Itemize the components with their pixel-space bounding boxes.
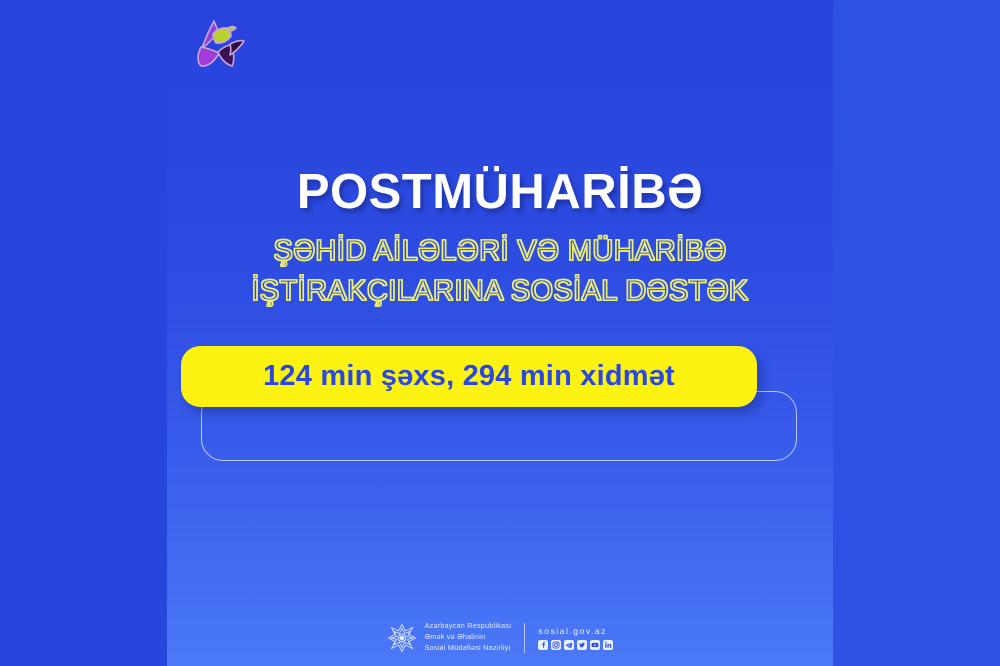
bird-flower-logo bbox=[187, 14, 251, 78]
ministry-group: Azərbaycan Respublikası Əmək və Əhalinin… bbox=[387, 621, 512, 654]
youtube-icon[interactable] bbox=[590, 640, 600, 650]
site-group: sosial.gov.az bbox=[538, 626, 613, 650]
social-links-row bbox=[538, 640, 613, 650]
left-background-strip bbox=[0, 0, 167, 666]
azerbaijan-ministry-star-emblem bbox=[387, 623, 417, 653]
right-background-strip bbox=[833, 0, 1000, 666]
stat-badge: 124 min şəxs, 294 min xidmət bbox=[181, 346, 757, 407]
telegram-icon[interactable] bbox=[564, 640, 574, 650]
poster-canvas: POSTMÜHARİBƏ ŞƏHİD AİLƏLƏRİ VƏ MÜHARİBƏ … bbox=[0, 0, 1000, 666]
headline-block: POSTMÜHARİBƏ ŞƏHİD AİLƏLƏRİ VƏ MÜHARİBƏ … bbox=[167, 168, 833, 311]
instagram-icon[interactable] bbox=[551, 640, 561, 650]
ministry-line-1: Azərbaycan Respublikası bbox=[425, 621, 512, 632]
poster-inner-panel: POSTMÜHARİBƏ ŞƏHİD AİLƏLƏRİ VƏ MÜHARİBƏ … bbox=[167, 0, 833, 666]
ministry-line-3: Sosial Müdafiəsi Nazirliyi bbox=[425, 643, 512, 654]
website-url[interactable]: sosial.gov.az bbox=[538, 626, 613, 636]
page-title: POSTMÜHARİBƏ bbox=[167, 168, 833, 217]
ministry-line-2: Əmək və Əhalinin bbox=[425, 632, 512, 643]
twitter-icon[interactable] bbox=[577, 640, 587, 650]
linkedin-icon[interactable] bbox=[603, 640, 613, 650]
ministry-name-block: Azərbaycan Respublikası Əmək və Əhalinin… bbox=[425, 621, 512, 654]
footer: Azərbaycan Respublikası Əmək və Əhalinin… bbox=[167, 621, 833, 654]
stat-badge-label: 124 min şəxs, 294 min xidmət bbox=[263, 360, 675, 393]
subtitle-line-2: İŞTİRAKÇILARINA SOSİAL DƏSTƏK bbox=[167, 271, 833, 311]
footer-divider bbox=[524, 623, 525, 653]
subtitle-line-1: ŞƏHİD AİLƏLƏRİ VƏ MÜHARİBƏ bbox=[167, 231, 833, 271]
facebook-icon[interactable] bbox=[538, 640, 548, 650]
